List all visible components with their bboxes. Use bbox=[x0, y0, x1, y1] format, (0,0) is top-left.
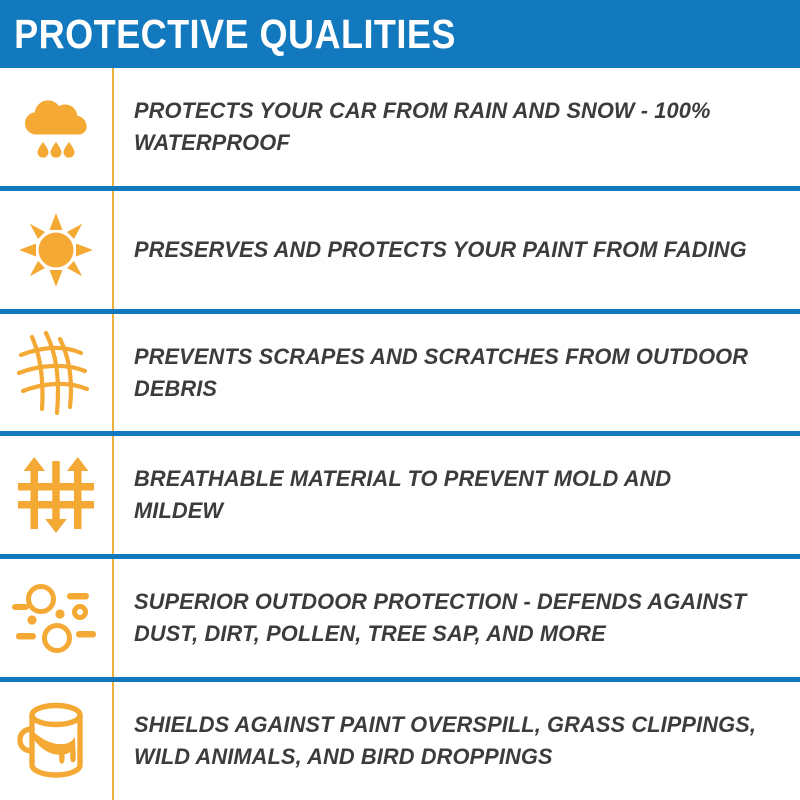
icon-cell bbox=[0, 559, 112, 677]
feature-text: SHIELDS AGAINST PAINT OVERSPILL, GRASS C… bbox=[134, 709, 766, 773]
feature-row: PROTECTS YOUR CAR FROM RAIN AND SNOW - 1… bbox=[0, 68, 800, 186]
header-bar: PROTECTIVE QUALITIES bbox=[0, 0, 800, 68]
feature-row: BREATHABLE MATERIAL TO PREVENT MOLD AND … bbox=[0, 436, 800, 554]
feature-text: PROTECTS YOUR CAR FROM RAIN AND SNOW - 1… bbox=[134, 95, 766, 159]
row-divider bbox=[0, 309, 800, 314]
page-title: PROTECTIVE QUALITIES bbox=[0, 14, 456, 55]
feature-list: PROTECTS YOUR CAR FROM RAIN AND SNOW - 1… bbox=[0, 68, 800, 800]
icon-cell bbox=[0, 68, 112, 186]
icon-cell bbox=[0, 682, 112, 800]
row-divider bbox=[0, 186, 800, 191]
row-divider bbox=[0, 431, 800, 436]
icon-cell bbox=[0, 191, 112, 309]
feature-row: PRESERVES AND PROTECTS YOUR PAINT FROM F… bbox=[0, 191, 800, 309]
text-cell: PRESERVES AND PROTECTS YOUR PAINT FROM F… bbox=[112, 234, 800, 266]
rain-cloud-icon bbox=[19, 90, 93, 164]
breathable-airflow-icon bbox=[14, 453, 98, 537]
text-cell: PROTECTS YOUR CAR FROM RAIN AND SNOW - 1… bbox=[112, 95, 800, 159]
feature-text: PRESERVES AND PROTECTS YOUR PAINT FROM F… bbox=[134, 234, 766, 266]
feature-text: PREVENTS SCRAPES AND SCRATCHES FROM OUTD… bbox=[134, 341, 766, 405]
paint-bucket-icon bbox=[14, 699, 98, 783]
feature-text: SUPERIOR OUTDOOR PROTECTION - DEFENDS AG… bbox=[134, 586, 766, 650]
feature-row: SUPERIOR OUTDOOR PROTECTION - DEFENDS AG… bbox=[0, 559, 800, 677]
sun-icon bbox=[16, 210, 96, 290]
text-cell: PREVENTS SCRAPES AND SCRATCHES FROM OUTD… bbox=[112, 341, 800, 405]
text-cell: SHIELDS AGAINST PAINT OVERSPILL, GRASS C… bbox=[112, 709, 800, 773]
scratch-mesh-icon bbox=[15, 329, 97, 417]
feature-text: BREATHABLE MATERIAL TO PREVENT MOLD AND … bbox=[134, 463, 766, 527]
text-cell: BREATHABLE MATERIAL TO PREVENT MOLD AND … bbox=[112, 463, 800, 527]
feature-row: SHIELDS AGAINST PAINT OVERSPILL, GRASS C… bbox=[0, 682, 800, 800]
row-divider bbox=[0, 554, 800, 559]
text-cell: SUPERIOR OUTDOOR PROTECTION - DEFENDS AG… bbox=[112, 586, 800, 650]
protective-qualities-infographic: PROTECTIVE QUALITIES bbox=[0, 0, 800, 800]
icon-cell bbox=[0, 436, 112, 554]
dust-particles-icon bbox=[10, 579, 102, 657]
icon-cell bbox=[0, 314, 112, 432]
feature-row: PREVENTS SCRAPES AND SCRATCHES FROM OUTD… bbox=[0, 314, 800, 432]
row-divider bbox=[0, 677, 800, 682]
